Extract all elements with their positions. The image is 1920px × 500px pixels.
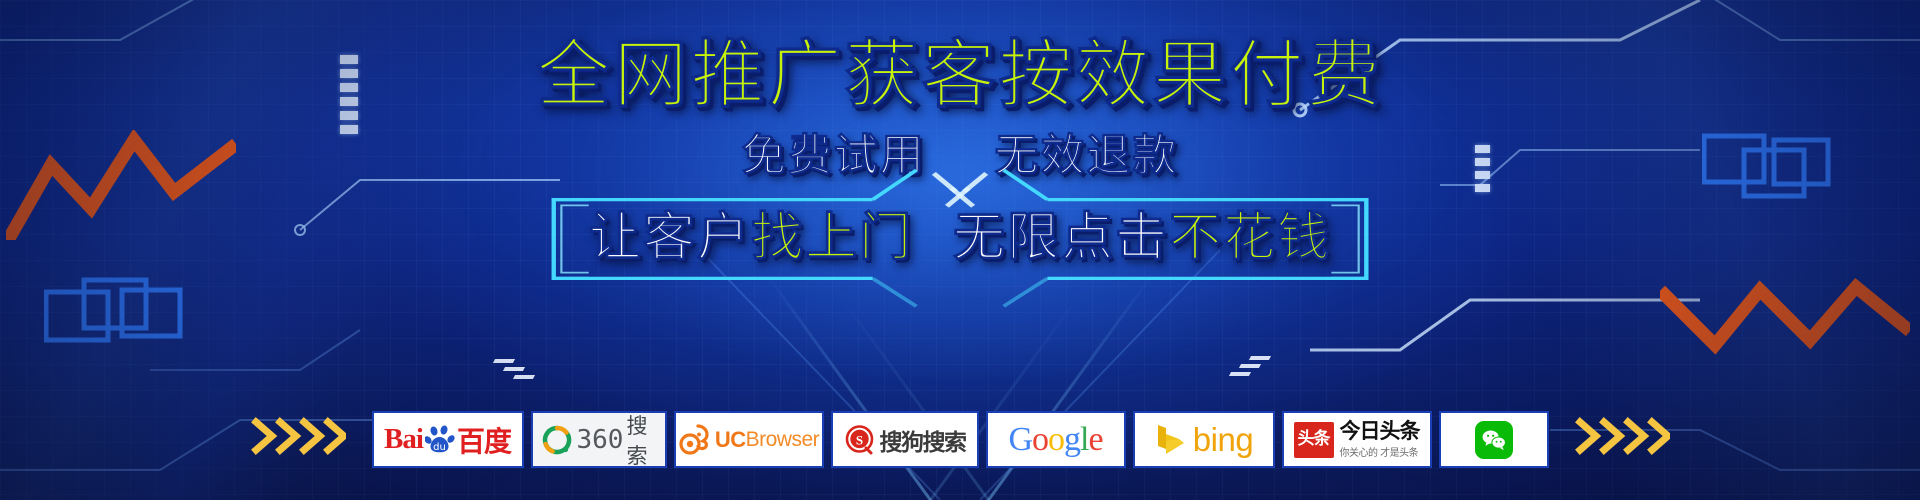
promo-banner: 全网推广获客按效果付费 免费试用 无效退款: [0, 0, 1920, 500]
chevrons-right: [1574, 416, 1670, 456]
bing-wordmark: bing: [1193, 421, 1253, 459]
benefit-a-green: 找上门: [751, 208, 913, 268]
toutiao-badge-icon: 头条: [1294, 422, 1334, 458]
subtitle-refund: 无效退款: [994, 130, 1178, 181]
outline-rects-left: [44, 272, 184, 352]
partner-logo-wechat[interactable]: [1439, 411, 1549, 468]
uc-browser-label: Browser: [746, 428, 820, 452]
subtitle-row: 免费试用 无效退款: [0, 134, 1920, 178]
highlight-frame: 让客户找上门无限点击不花钱: [545, 198, 1375, 280]
headline-stack: 全网推广获客按效果付费 免费试用 无效退款: [0, 38, 1920, 280]
svg-text:du: du: [433, 442, 446, 453]
google-wordmark: Google: [1008, 421, 1102, 459]
partner-logo-google[interactable]: Google: [986, 411, 1126, 468]
benefit-line: 让客户找上门无限点击不花钱: [589, 212, 1331, 264]
partner-logo-360[interactable]: 360 搜索: [531, 411, 667, 468]
360-cn-label: 搜索: [626, 411, 655, 468]
sogou-s-icon: S: [844, 424, 875, 455]
benefit-b-green: 不花钱: [1169, 208, 1331, 268]
uc-squirrel-icon: [678, 424, 712, 456]
partner-logo-toutiao[interactable]: 头条 今日头条 你关心的 才是头条: [1282, 411, 1432, 468]
partner-logo-bing[interactable]: bing: [1133, 411, 1275, 468]
chevrons-left: [250, 416, 346, 456]
baidu-cn-label: 百度: [457, 420, 511, 460]
benefit-b-white: 无限点击: [953, 208, 1169, 268]
tick-marks-right: [1230, 352, 1270, 380]
baidu-paw-icon: du: [425, 425, 455, 455]
partner-logo-uc[interactable]: UC Browser: [674, 411, 824, 468]
uc-wordmark: UC: [715, 427, 746, 453]
bing-b-icon: [1154, 423, 1188, 457]
page-title: 全网推广获客按效果付费: [0, 38, 1920, 112]
subtitle-free-trial: 免费试用: [742, 130, 926, 181]
partner-logo-sogou[interactable]: S 搜狗搜索: [831, 411, 979, 468]
benefit-a-white: 让客户: [589, 208, 751, 268]
tick-marks-left: [494, 355, 534, 383]
baidu-wordmark: Bai: [384, 423, 423, 456]
sogou-cn-label: 搜狗搜索: [880, 423, 966, 457]
360-number-label: 360: [577, 425, 624, 455]
partner-logo-baidu[interactable]: Bai du 百度: [372, 411, 524, 468]
wechat-icon: [1475, 421, 1513, 459]
svg-text:S: S: [855, 433, 862, 448]
toutiao-cn-label: 今日头条: [1340, 420, 1420, 442]
toutiao-tagline: 你关心的 才是头条: [1340, 444, 1419, 459]
360-ring-icon: [542, 425, 572, 455]
